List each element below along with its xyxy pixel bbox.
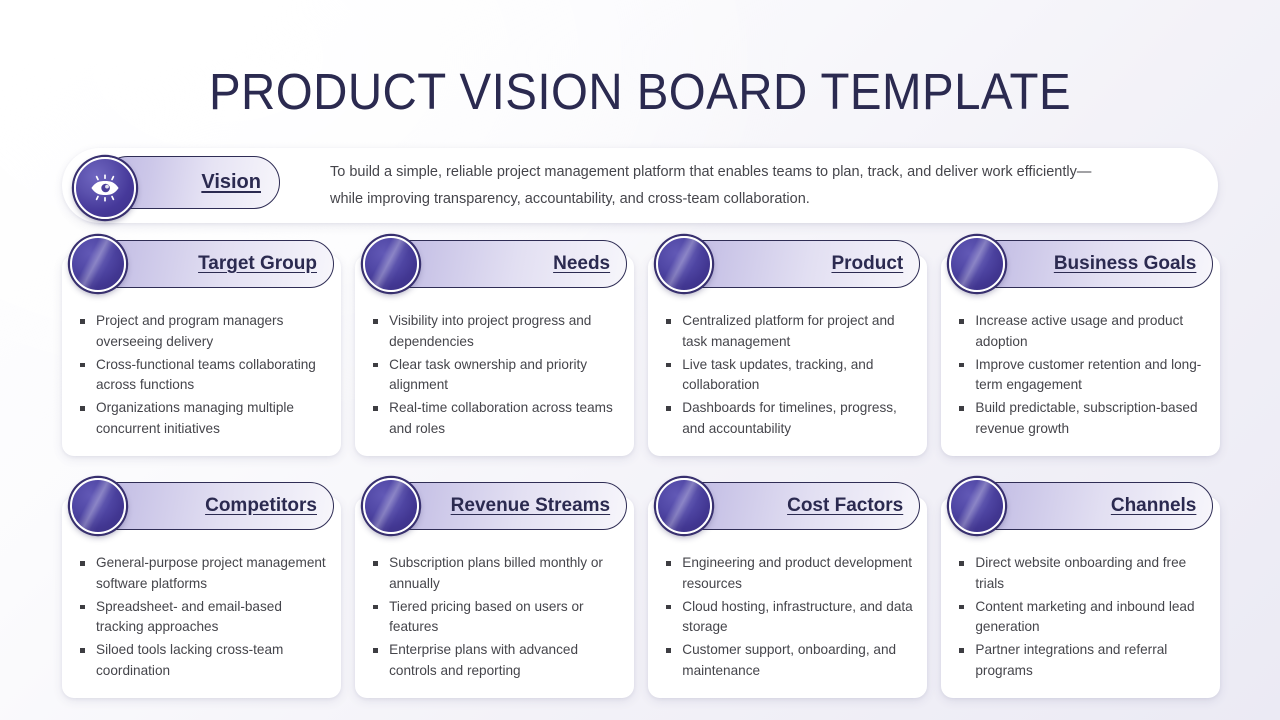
category-label: Revenue Streams [451,495,610,517]
list-item: Clear task ownership and priority alignm… [369,355,620,396]
list-item: Real-time collaboration across teams and… [369,398,620,439]
bullet-list: Direct website onboarding and free trial… [955,553,1206,682]
list-item: Increase active usage and product adopti… [955,311,1206,352]
bullet-list: Engineering and product development reso… [662,553,913,682]
category-badge-icon [363,478,419,534]
card-cost-factors: Engineering and product development reso… [648,482,927,698]
list-item: Improve customer retention and long-term… [955,355,1206,396]
list-item: Cloud hosting, infrastructure, and data … [662,597,913,638]
category-badge-icon [656,236,712,292]
eye-icon [88,173,122,203]
list-item: Tiered pricing based on users or feature… [369,597,620,638]
list-item: Subscription plans billed monthly or ann… [369,553,620,594]
category-badge-icon [656,478,712,534]
list-item: Visibility into project progress and dep… [369,311,620,352]
list-item: Engineering and product development reso… [662,553,913,594]
list-item: Dashboards for timelines, progress, and … [662,398,913,439]
product-vision-board: PRODUCT VISION BOARD TEMPLATE Vision [0,0,1280,720]
category-label: Product [831,253,903,275]
list-item: Centralized platform for project and tas… [662,311,913,352]
list-item: Siloed tools lacking cross-team coordina… [76,640,327,681]
bullet-list: General-purpose project management softw… [76,553,327,682]
list-item: Spreadsheet- and email-based tracking ap… [76,597,327,638]
category-label: Target Group [198,253,317,275]
category-label: Business Goals [1054,253,1197,275]
category-badge-icon [363,236,419,292]
category-label: Needs [553,253,610,275]
list-item: Build predictable, subscription-based re… [955,398,1206,439]
list-item: Organizations managing multiple concurre… [76,398,327,439]
card-channels: Direct website onboarding and free trial… [941,482,1220,698]
list-item: Enterprise plans with advanced controls … [369,640,620,681]
card-competitors: General-purpose project management softw… [62,482,341,698]
category-badge-icon [70,478,126,534]
bullet-list: Visibility into project progress and dep… [369,311,620,440]
list-item: Customer support, onboarding, and mainte… [662,640,913,681]
category-label: Cost Factors [787,495,903,517]
bullet-list: Centralized platform for project and tas… [662,311,913,440]
list-item: Cross-functional teams collaborating acr… [76,355,327,396]
vision-label: Vision [201,171,261,194]
card-business-goals: Increase active usage and product adopti… [941,240,1220,456]
list-item: Project and program managers overseeing … [76,311,327,352]
category-badge-icon [70,236,126,292]
card-product: Centralized platform for project and tas… [648,240,927,456]
list-item: Live task updates, tracking, and collabo… [662,355,913,396]
card-target-group: Project and program managers overseeing … [62,240,341,456]
list-item: Partner integrations and referral progra… [955,640,1206,681]
vision-statement: To build a simple, reliable project mana… [330,159,1120,213]
card-row-2: General-purpose project management softw… [62,482,1220,698]
page-title: PRODUCT VISION BOARD TEMPLATE [45,60,1235,124]
card-row-1: Project and program managers overseeing … [62,240,1220,456]
bullet-list: Subscription plans billed monthly or ann… [369,553,620,682]
list-item: Content marketing and inbound lead gener… [955,597,1206,638]
bullet-list: Project and program managers overseeing … [76,311,327,440]
card-revenue-streams: Subscription plans billed monthly or ann… [355,482,634,698]
bullet-list: Increase active usage and product adopti… [955,311,1206,440]
list-item: Direct website onboarding and free trial… [955,553,1206,594]
card-needs: Visibility into project progress and dep… [355,240,634,456]
category-grid: Project and program managers overseeing … [62,240,1220,720]
vision-badge [74,157,136,219]
category-label: Competitors [205,495,317,517]
category-label: Channels [1111,495,1197,517]
list-item: General-purpose project management softw… [76,553,327,594]
category-badge-icon [949,236,1005,292]
